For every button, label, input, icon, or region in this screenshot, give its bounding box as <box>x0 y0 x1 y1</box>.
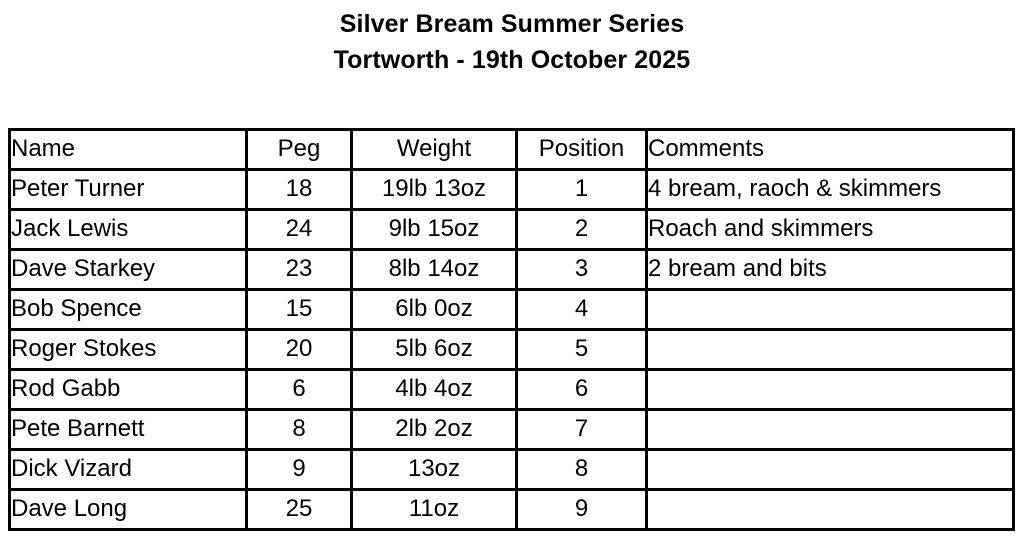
cell-peg: 6 <box>247 370 352 410</box>
cell-comments <box>647 290 1014 330</box>
cell-name: Peter Turner <box>10 170 247 210</box>
cell-position: 4 <box>517 290 647 330</box>
cell-position: 1 <box>517 170 647 210</box>
cell-position: 7 <box>517 410 647 450</box>
cell-peg: 18 <box>247 170 352 210</box>
cell-name: Bob Spence <box>10 290 247 330</box>
table-row: Roger Stokes 20 5lb 6oz 5 <box>10 330 1014 370</box>
title-line-venue-date: Tortworth - 19th October 2025 <box>0 42 1024 78</box>
cell-name: Dick Vizard <box>10 450 247 490</box>
table-row: Dick Vizard 9 13oz 8 <box>10 450 1014 490</box>
cell-name: Jack Lewis <box>10 210 247 250</box>
cell-peg: 9 <box>247 450 352 490</box>
cell-name: Rod Gabb <box>10 370 247 410</box>
cell-weight: 19lb 13oz <box>352 170 517 210</box>
column-header-peg: Peg <box>247 130 352 170</box>
cell-name: Dave Long <box>10 490 247 530</box>
table-row: Rod Gabb 6 4lb 4oz 6 <box>10 370 1014 410</box>
table-row: Dave Long 25 11oz 9 <box>10 490 1014 530</box>
table-row: Pete Barnett 8 2lb 2oz 7 <box>10 410 1014 450</box>
table-row: Dave Starkey 23 8lb 14oz 3 2 bream and b… <box>10 250 1014 290</box>
cell-name: Roger Stokes <box>10 330 247 370</box>
cell-comments: 4 bream, raoch & skimmers <box>647 170 1014 210</box>
column-header-position: Position <box>517 130 647 170</box>
table-body: Peter Turner 18 19lb 13oz 1 4 bream, rao… <box>10 170 1014 530</box>
page-title: Silver Bream Summer Series Tortworth - 1… <box>0 6 1024 78</box>
cell-peg: 23 <box>247 250 352 290</box>
cell-weight: 6lb 0oz <box>352 290 517 330</box>
cell-weight: 5lb 6oz <box>352 330 517 370</box>
cell-peg: 24 <box>247 210 352 250</box>
cell-comments: 2 bream and bits <box>647 250 1014 290</box>
cell-position: 3 <box>517 250 647 290</box>
cell-weight: 2lb 2oz <box>352 410 517 450</box>
cell-peg: 8 <box>247 410 352 450</box>
cell-name: Dave Starkey <box>10 250 247 290</box>
cell-weight: 13oz <box>352 450 517 490</box>
table-header-row: Name Peg Weight Position Comments <box>10 130 1014 170</box>
cell-position: 5 <box>517 330 647 370</box>
cell-comments <box>647 330 1014 370</box>
cell-weight: 11oz <box>352 490 517 530</box>
title-line-series: Silver Bream Summer Series <box>0 6 1024 42</box>
table-header: Name Peg Weight Position Comments <box>10 130 1014 170</box>
table-row: Bob Spence 15 6lb 0oz 4 <box>10 290 1014 330</box>
table-row: Jack Lewis 24 9lb 15oz 2 Roach and skimm… <box>10 210 1014 250</box>
cell-position: 8 <box>517 450 647 490</box>
cell-peg: 25 <box>247 490 352 530</box>
cell-position: 6 <box>517 370 647 410</box>
cell-comments <box>647 410 1014 450</box>
cell-comments: Roach and skimmers <box>647 210 1014 250</box>
cell-name: Pete Barnett <box>10 410 247 450</box>
column-header-comments: Comments <box>647 130 1014 170</box>
cell-weight: 8lb 14oz <box>352 250 517 290</box>
cell-position: 9 <box>517 490 647 530</box>
results-table-container: Name Peg Weight Position Comments Peter … <box>8 128 1012 531</box>
results-table: Name Peg Weight Position Comments Peter … <box>8 128 1015 531</box>
column-header-name: Name <box>10 130 247 170</box>
cell-peg: 20 <box>247 330 352 370</box>
cell-position: 2 <box>517 210 647 250</box>
cell-comments <box>647 370 1014 410</box>
column-header-weight: Weight <box>352 130 517 170</box>
cell-comments <box>647 450 1014 490</box>
cell-comments <box>647 490 1014 530</box>
cell-peg: 15 <box>247 290 352 330</box>
cell-weight: 9lb 15oz <box>352 210 517 250</box>
results-sheet: Silver Bream Summer Series Tortworth - 1… <box>0 0 1024 554</box>
table-row: Peter Turner 18 19lb 13oz 1 4 bream, rao… <box>10 170 1014 210</box>
cell-weight: 4lb 4oz <box>352 370 517 410</box>
